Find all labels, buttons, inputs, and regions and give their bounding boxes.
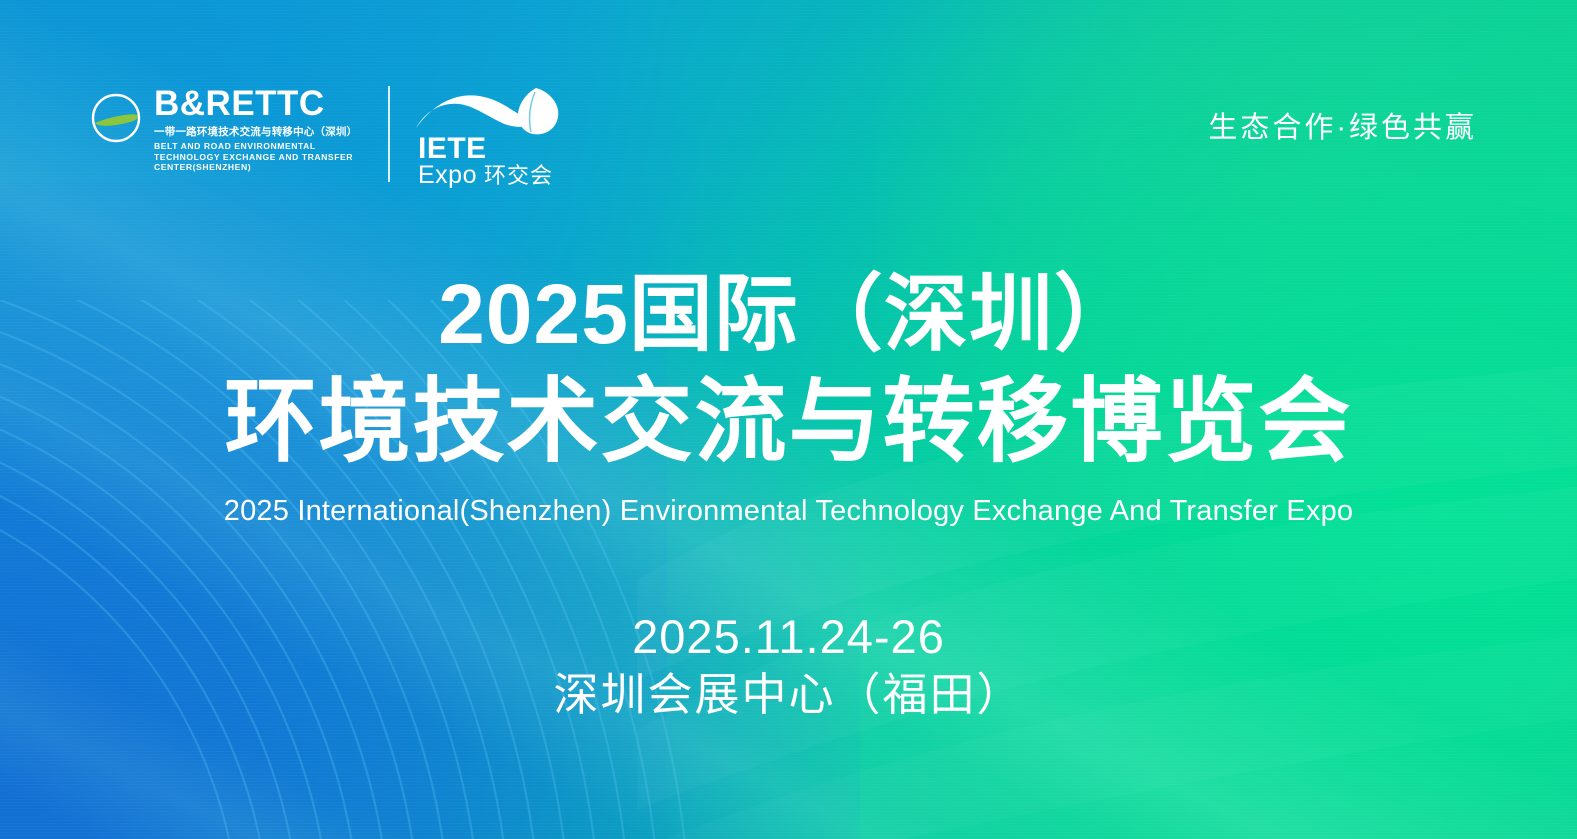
event-subtitle-english: 2025 International(Shenzhen) Environment… — [0, 492, 1577, 530]
event-banner: B&RETTC 一带一路环境技术交流与转移中心（深圳） BELT AND ROA… — [0, 0, 1577, 839]
banner-main: 2025国际（深圳） 环境技术交流与转移博览会 2025 Internation… — [0, 0, 1577, 839]
event-venue: 深圳会展中心（福田） — [0, 666, 1577, 724]
event-title-line-2: 环境技术交流与转移博览会 — [0, 372, 1577, 472]
event-date: 2025.11.24-26 — [0, 608, 1577, 666]
event-title-line-1: 2025国际（深圳） — [0, 268, 1577, 360]
